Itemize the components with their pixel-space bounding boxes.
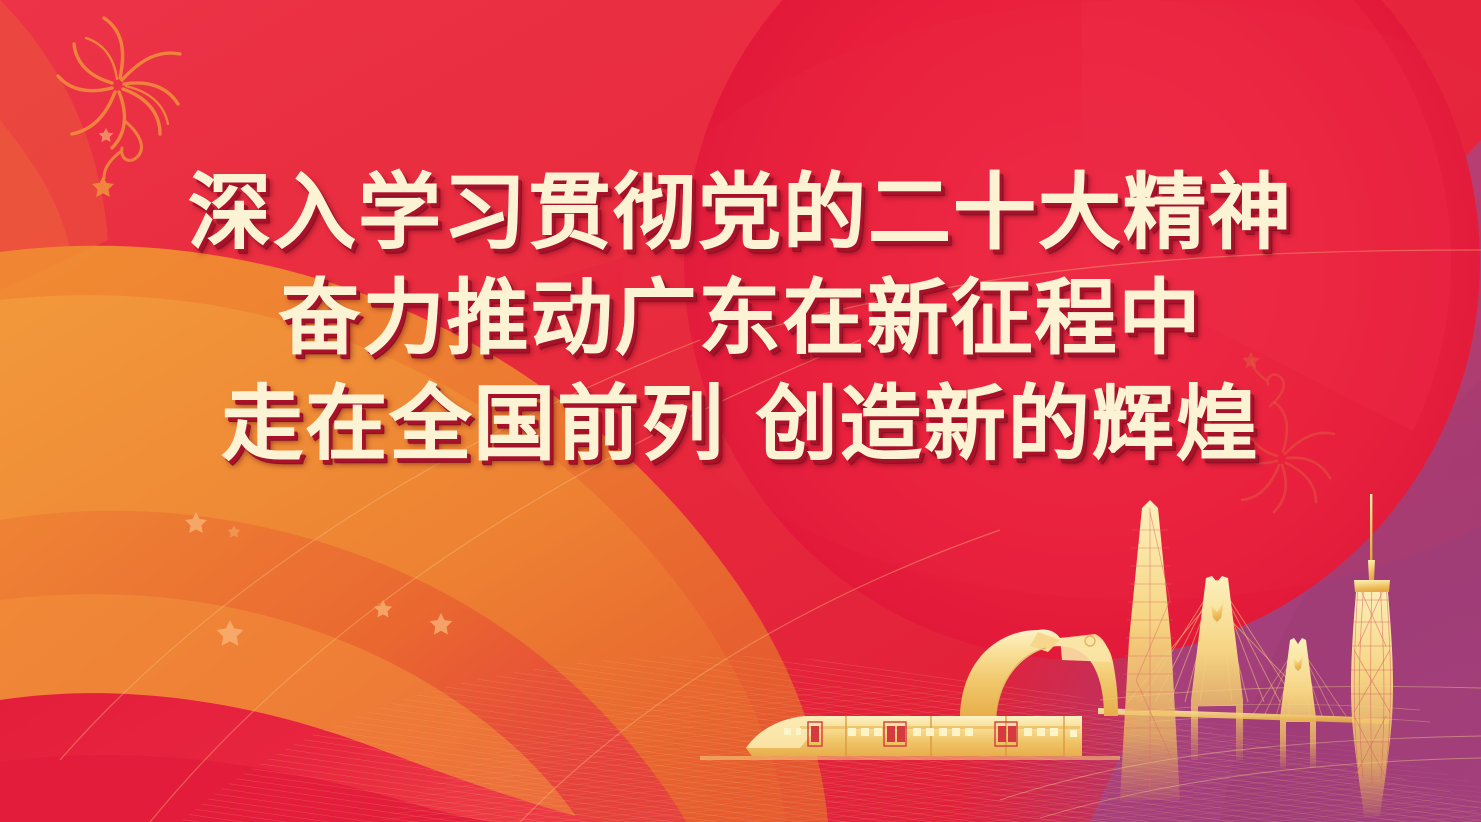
poster-canvas: 深入学习贯彻党的二十大精神 奋力推动广东在新征程中 走在全国前列 创造新的辉煌 [0,0,1481,822]
poster-background [0,0,1481,822]
